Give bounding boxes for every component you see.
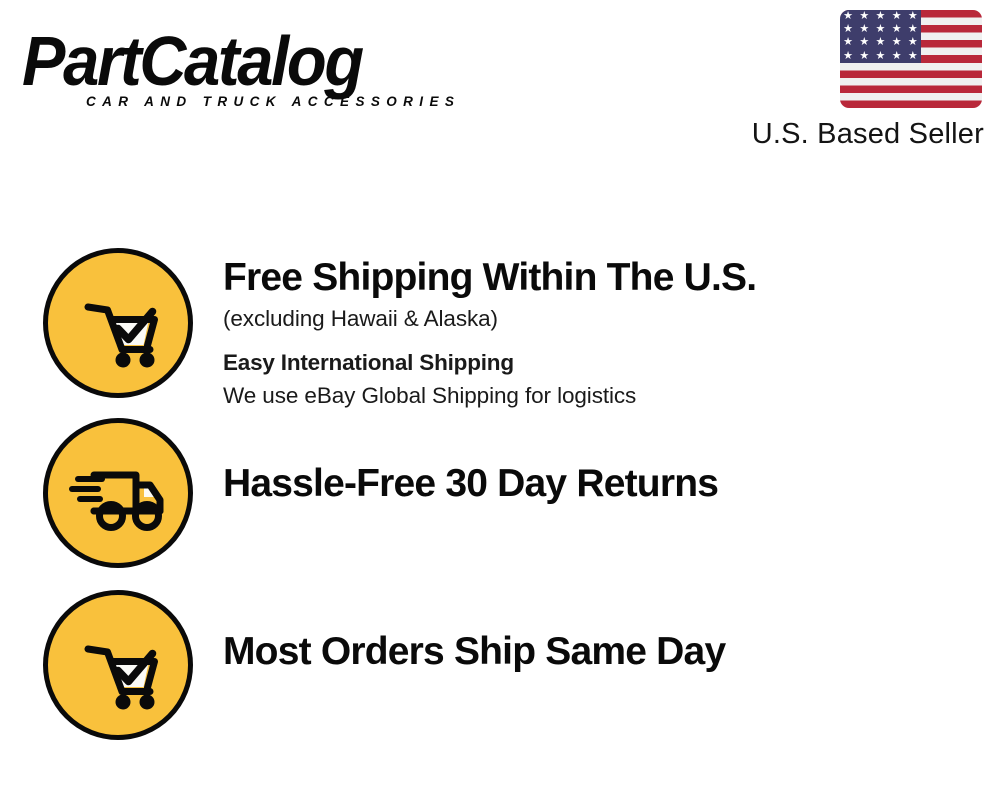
banner-header: PartCatalog CAR AND TRUCK ACCESSORIES ★★… (0, 0, 1000, 175)
feature-text-block: Most Orders Ship Same Day (193, 590, 1000, 676)
shopping-cart-check-icon (43, 248, 193, 398)
feature-title: Most Orders Ship Same Day (223, 628, 1000, 676)
feature-title: Hassle-Free 30 Day Returns (223, 460, 1000, 508)
feature-subtitle-heading: Easy International Shipping (223, 347, 1000, 379)
feature-text-block: Hassle-Free 30 Day Returns (193, 418, 1000, 508)
feature-row: Most Orders Ship Same Day (0, 590, 1000, 750)
brand-logo: PartCatalog CAR AND TRUCK ACCESSORIES (22, 22, 492, 114)
us-based-seller-label: U.S. Based Seller (752, 117, 984, 151)
feature-text-block: Free Shipping Within The U.S. (excluding… (193, 248, 1000, 412)
brand-tagline: CAR AND TRUCK ACCESSORIES (86, 94, 460, 110)
brand-wordmark: PartCatalog (22, 22, 362, 100)
feature-row: Hassle-Free 30 Day Returns (0, 418, 1000, 590)
feature-list: Free Shipping Within The U.S. (excluding… (0, 230, 1000, 750)
flag-stars: ★★★★★ ★★★★★ ★★★★★ ★★★★★ (840, 10, 921, 63)
promo-banner: PartCatalog CAR AND TRUCK ACCESSORIES ★★… (0, 0, 1000, 800)
delivery-truck-icon (43, 418, 193, 568)
us-flag-icon: ★★★★★ ★★★★★ ★★★★★ ★★★★★ (840, 10, 982, 108)
feature-subtitle-note: (excluding Hawaii & Alaska) (223, 303, 1000, 335)
shopping-cart-check-icon (43, 590, 193, 740)
feature-row: Free Shipping Within The U.S. (excluding… (0, 248, 1000, 418)
feature-title: Free Shipping Within The U.S. (223, 254, 1000, 302)
feature-subtitle-detail: We use eBay Global Shipping for logistic… (223, 380, 1000, 412)
